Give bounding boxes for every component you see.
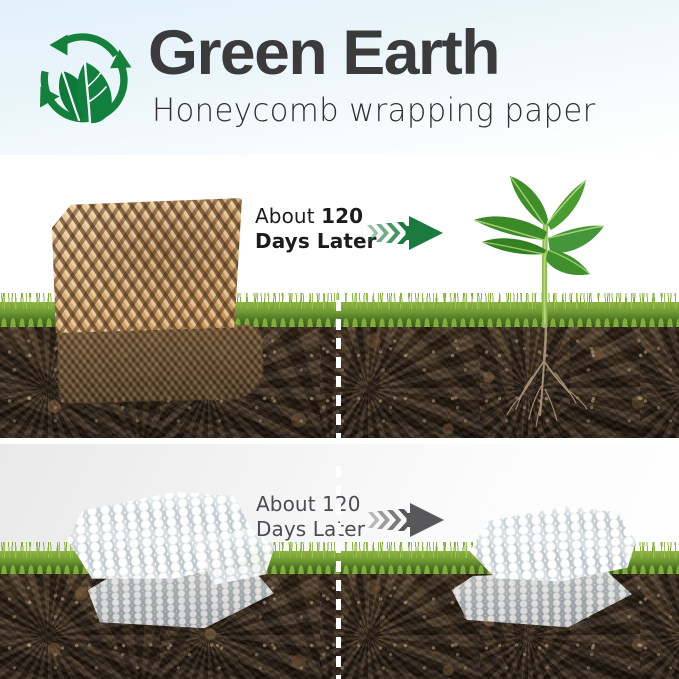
dashed-vertical-divider-top [336,300,341,438]
green-arrow-right-icon [365,215,445,251]
caption-top-line2: Days Later [255,229,377,254]
green-seedling-plant [452,168,642,328]
caption-top-panel: About 120 Days Later [255,204,377,254]
gray-arrow-right-icon [366,502,446,538]
dashed-vertical-divider-bottom [336,466,341,679]
infographic-canvas: Green Earth Honeycomb wrapping paper [0,0,679,679]
caption-top-days-value: 120 [321,204,363,228]
caption-bottom-panel: About 120 Days Later [256,492,365,542]
buried-decomposing-paper [57,324,264,403]
recycle-leaves-icon [27,24,137,132]
header-banner: Green Earth Honeycomb wrapping paper [0,0,679,155]
caption-top-prefix: About [255,204,321,228]
caption-bottom-line2: Days Later [256,517,365,542]
caption-bottom-prefix: About [256,492,322,516]
honeycomb-kraft-paper-sheet [52,198,242,333]
brand-title: Green Earth [148,22,499,85]
caption-bottom-days-value: 120 [322,492,360,516]
brand-subtitle: Honeycomb wrapping paper [152,94,596,126]
